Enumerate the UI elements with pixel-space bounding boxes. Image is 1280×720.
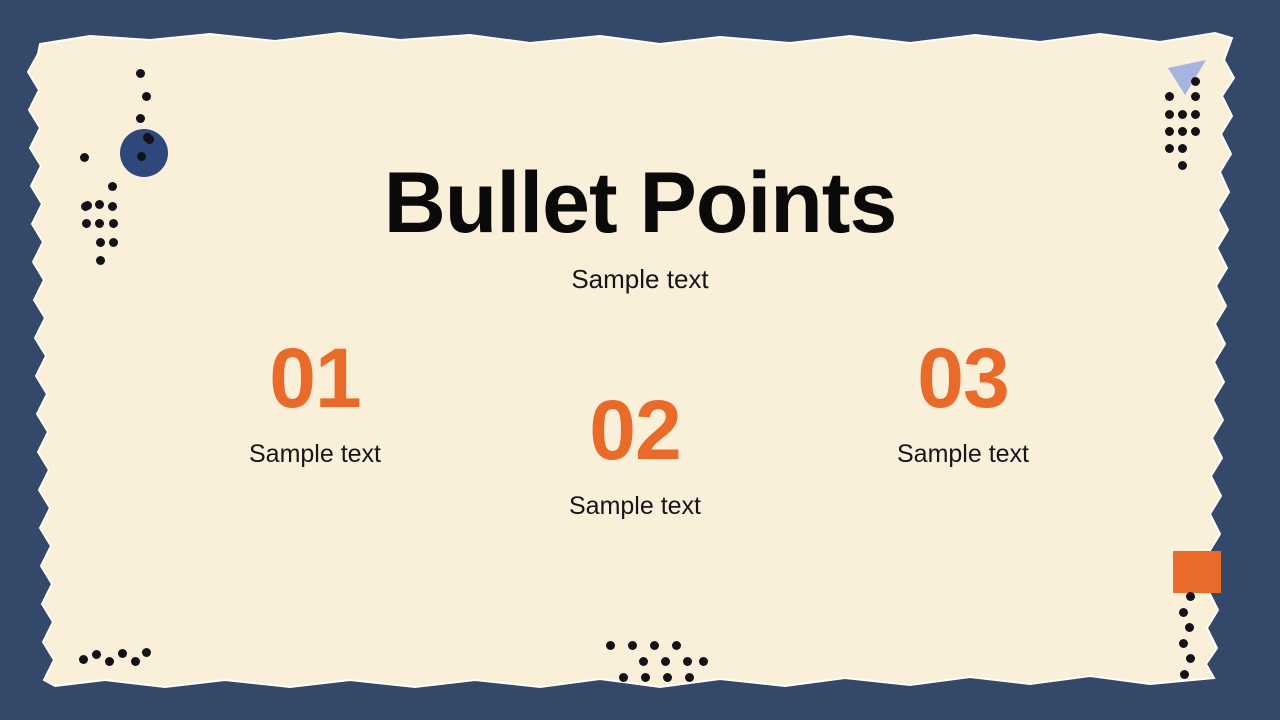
bullet-number-03: 03 (843, 336, 1083, 420)
bullet-item-03: 03 Sample text (843, 336, 1083, 469)
bullet-item-02: 02 Sample text (515, 388, 755, 521)
bullet-label-03: Sample text (843, 440, 1083, 469)
title-block: Bullet Points Sample text (0, 160, 1280, 295)
bullet-number-02: 02 (515, 388, 755, 472)
bullet-label-02: Sample text (515, 492, 755, 521)
slide-canvas: Bullet Points Sample text 01 Sample text… (0, 0, 1280, 720)
bullet-label-01: Sample text (195, 440, 435, 469)
bullet-number-01: 01 (195, 336, 435, 420)
page-title: Bullet Points (0, 160, 1280, 246)
bullet-item-01: 01 Sample text (195, 336, 435, 469)
slide-content: Bullet Points Sample text 01 Sample text… (0, 0, 1280, 720)
page-subtitle: Sample text (0, 264, 1280, 295)
